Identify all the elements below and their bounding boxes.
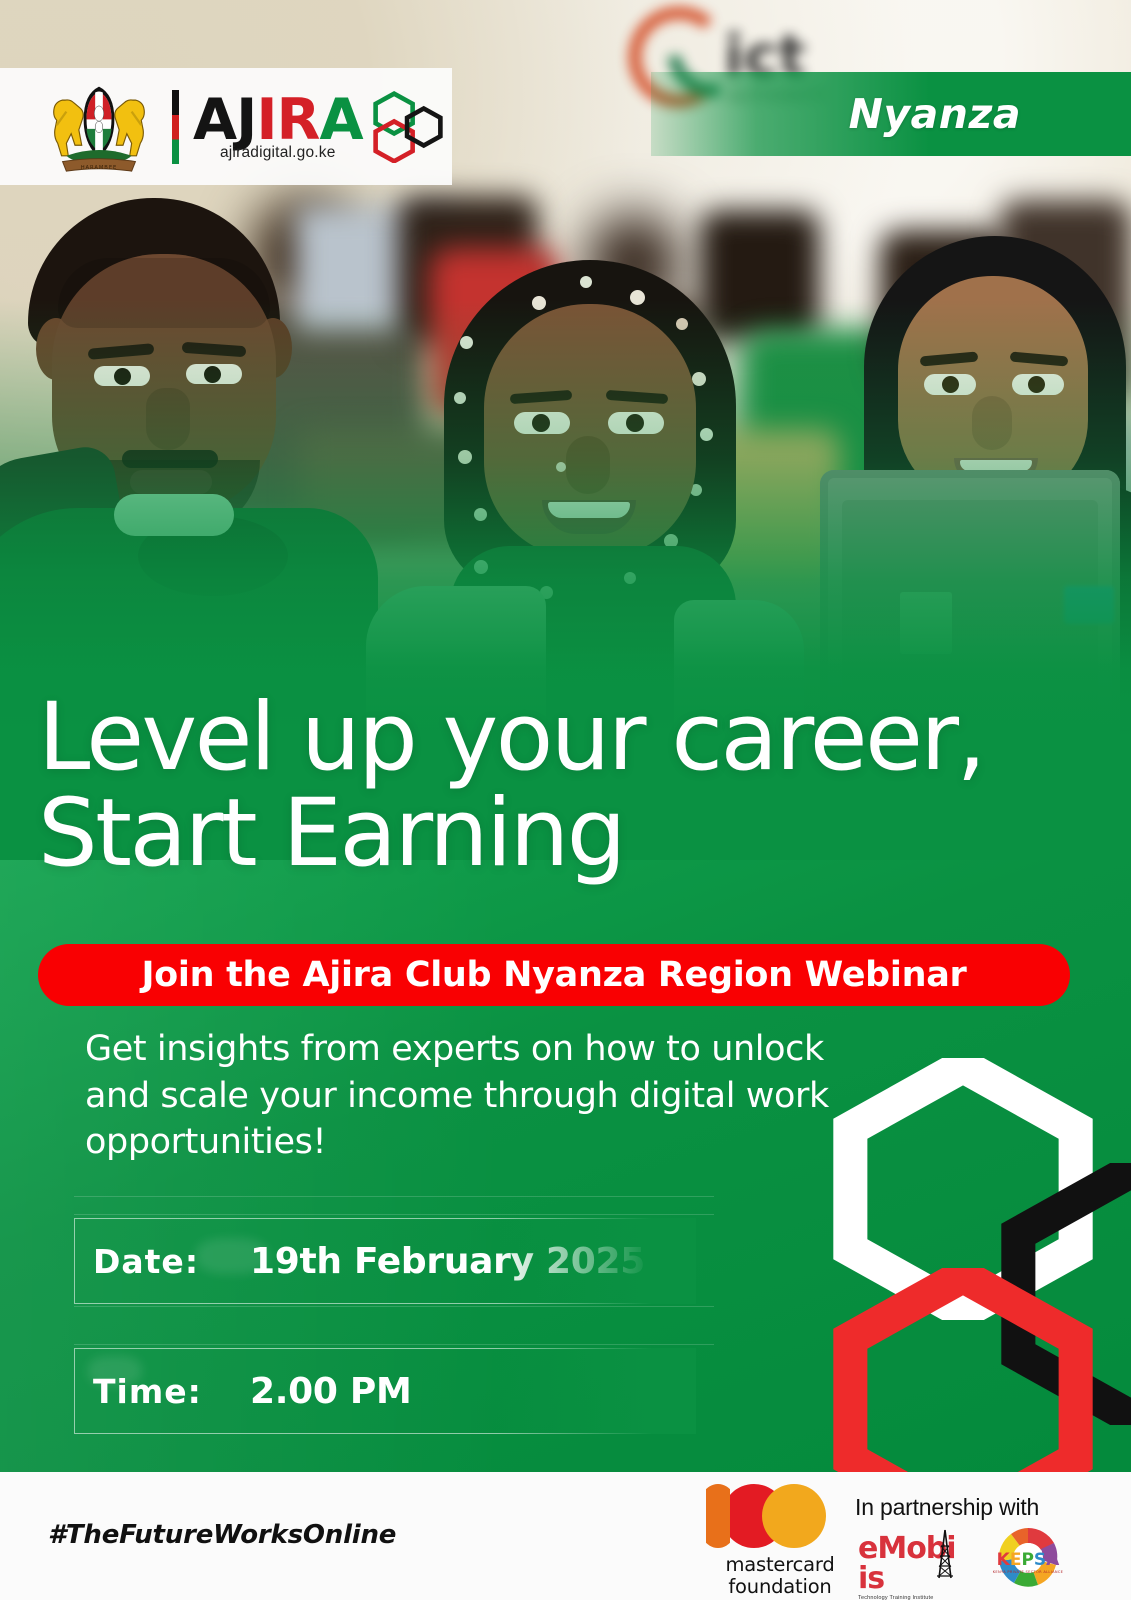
time-value: 2.00 PM xyxy=(250,1371,411,1412)
headline-line-1: Level up your career, xyxy=(38,683,984,792)
description-line-3: opportunities! xyxy=(85,1119,845,1166)
date-row: Date: 19th February 2025 xyxy=(74,1218,696,1304)
decorative-line xyxy=(74,1214,714,1215)
emobilis-wordmark: eMobiis xyxy=(858,1534,980,1594)
kepsa-tagline: KENYA PRIVATE SECTOR ALLIANCE xyxy=(993,1570,1064,1574)
emobilis-word-b: is xyxy=(858,1561,884,1596)
date-value: 19th February 2025 xyxy=(250,1241,645,1282)
cta-banner-label: Join the Ajira Club Nyanza Region Webina… xyxy=(141,955,966,995)
date-label: Date: xyxy=(75,1242,250,1281)
mastercard-yellow-circle xyxy=(762,1484,826,1548)
mastercard-foundation-logo: mastercard foundation xyxy=(706,1484,854,1592)
mastercard-line-2: foundation xyxy=(706,1576,854,1598)
description-text: Get insights from experts on how to unlo… xyxy=(85,1026,845,1166)
mastercard-circles-icon xyxy=(706,1484,854,1548)
decorative-line xyxy=(74,1196,714,1197)
page-title: Level up your career, Start Earning xyxy=(38,690,1098,882)
description-line-1: Get insights from experts on how to unlo… xyxy=(85,1026,845,1073)
radio-tower-icon xyxy=(932,1528,958,1582)
emobilis-logo: eMobiis Technology Training Institute xyxy=(858,1534,980,1586)
decorative-line xyxy=(74,1306,714,1307)
mastercard-overlap xyxy=(706,1484,730,1548)
mastercard-line-1: mastercard xyxy=(706,1554,854,1576)
mastercard-foundation-wordmark: mastercard foundation xyxy=(706,1554,854,1598)
footer: #TheFutureWorksOnline mastercard foundat… xyxy=(0,1472,1131,1600)
partnership-label: In partnership with xyxy=(855,1494,1039,1521)
cta-banner[interactable]: Join the Ajira Club Nyanza Region Webina… xyxy=(38,944,1070,1006)
emobilis-tagline: Technology Training Institute xyxy=(858,1595,980,1600)
hashtag: #TheFutureWorksOnline xyxy=(48,1520,396,1550)
svg-text:KEPSA: KEPSA xyxy=(997,1550,1061,1570)
decorative-line xyxy=(74,1344,714,1345)
poster-root: Level up your career, Start Earning Join… xyxy=(0,0,1131,1600)
kepsa-logo-icon: KEPSA KENYA PRIVATE SECTOR ALLIANCE xyxy=(985,1522,1071,1594)
time-label: Time: xyxy=(75,1372,250,1411)
time-row: Time: 2.00 PM xyxy=(74,1348,696,1434)
description-line-2: and scale your income through digital wo… xyxy=(85,1073,845,1120)
headline-line-2: Start Earning xyxy=(38,786,1098,882)
